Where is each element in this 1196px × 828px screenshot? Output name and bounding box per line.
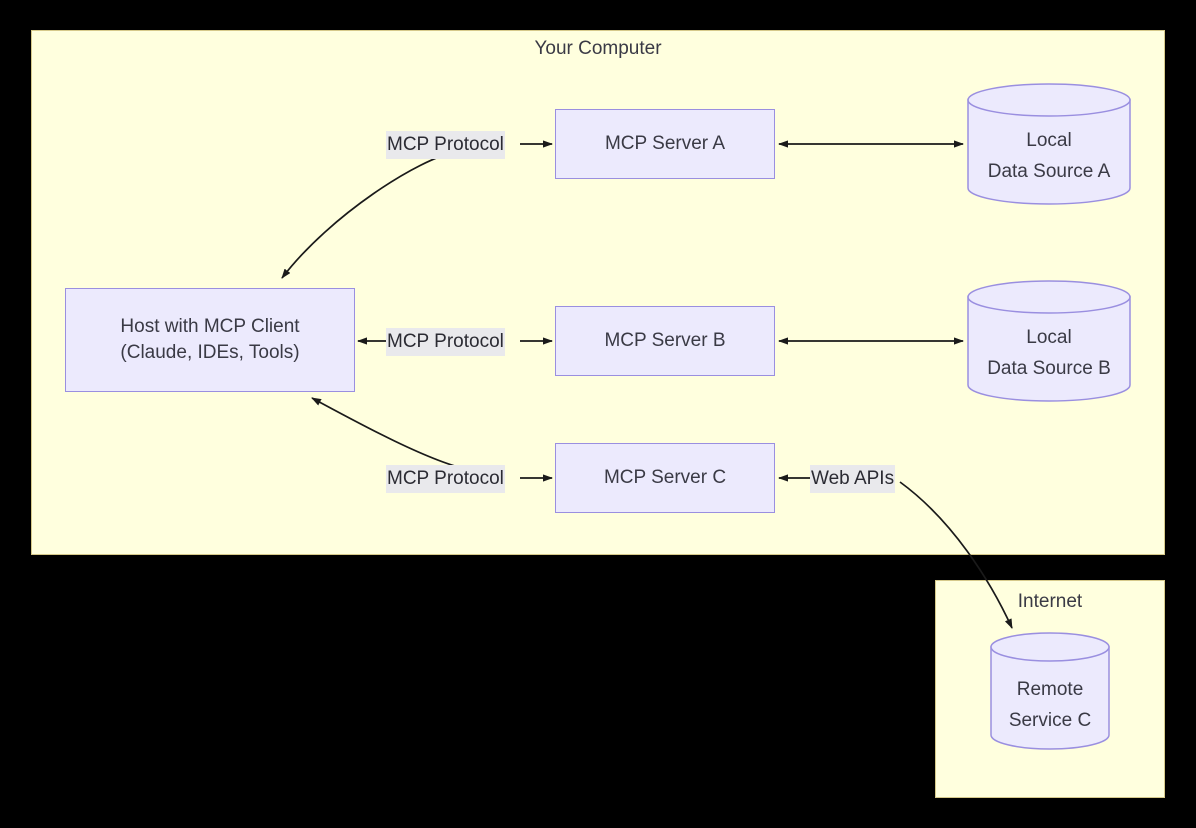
- node-host-label: Host with MCP Client (Claude, IDEs, Tool…: [120, 314, 299, 366]
- node-mcp-server-c-label-line-1: MCP Server C: [604, 465, 726, 491]
- edge-label-mcp-protocol-a: MCP Protocol: [386, 131, 505, 159]
- node-host-label-line-2: (Claude, IDEs, Tools): [120, 340, 299, 366]
- node-mcp-server-b-label: MCP Server B: [604, 328, 725, 354]
- node-host-with-mcp-client[interactable]: Host with MCP Client (Claude, IDEs, Tool…: [65, 288, 355, 392]
- node-mcp-server-c-label: MCP Server C: [604, 465, 726, 491]
- node-local-data-source-a[interactable]: Local Data Source A: [967, 83, 1131, 205]
- node-mcp-server-a-label: MCP Server A: [605, 131, 725, 157]
- node-mcp-server-b[interactable]: MCP Server B: [555, 306, 775, 376]
- node-host-label-line-1: Host with MCP Client: [120, 314, 299, 340]
- node-mcp-server-a[interactable]: MCP Server A: [555, 109, 775, 179]
- region-internet-title: Internet: [936, 591, 1164, 613]
- edge-label-web-apis: Web APIs: [810, 465, 895, 493]
- region-your-computer-title: Your Computer: [32, 38, 1164, 60]
- edge-label-mcp-protocol-c: MCP Protocol: [386, 465, 505, 493]
- diagram-canvas: Your Computer Internet: [0, 0, 1196, 828]
- node-mcp-server-c[interactable]: MCP Server C: [555, 443, 775, 513]
- node-remote-service-c[interactable]: Remote Service C: [990, 632, 1110, 750]
- edge-label-mcp-protocol-b: MCP Protocol: [386, 328, 505, 356]
- node-local-data-source-b[interactable]: Local Data Source B: [967, 280, 1131, 402]
- node-mcp-server-a-label-line-1: MCP Server A: [605, 131, 725, 157]
- node-mcp-server-b-label-line-1: MCP Server B: [604, 328, 725, 354]
